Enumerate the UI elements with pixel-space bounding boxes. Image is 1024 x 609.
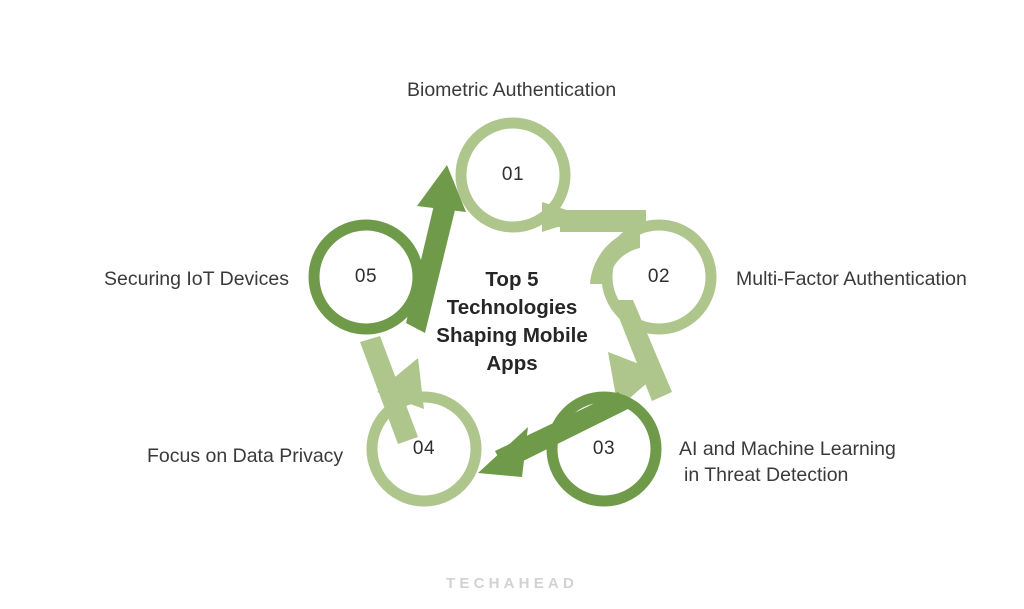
center-title-line-1: Top 5 <box>485 268 538 291</box>
node-label-biometric-authentication: Biometric Authentication <box>407 77 616 103</box>
node-label-ai-machine-learning: AI and Machine Learningin Threat Detecti… <box>679 436 896 488</box>
node-number-05: 05 <box>306 266 426 288</box>
connector-03-to-04-arrowhead <box>478 427 528 477</box>
node-number-01: 01 <box>453 164 573 186</box>
center-title-line-4: Apps <box>486 352 537 375</box>
node-number-02: 02 <box>599 266 719 288</box>
center-title-line-3: Shaping Mobile <box>436 324 587 347</box>
node-label-securing-iot-devices: Securing IoT Devices <box>104 266 289 292</box>
node-label-line-2: in Threat Detection <box>679 462 896 488</box>
node-number-03: 03 <box>544 438 664 460</box>
node-label-multi-factor-authentication: Multi-Factor Authentication <box>736 266 967 292</box>
center-title-line-2: Technologies <box>447 296 578 319</box>
node-label-line-1: AI and Machine Learning <box>679 438 896 460</box>
node-label-focus-on-data-privacy: Focus on Data Privacy <box>147 443 343 469</box>
node-number-04: 04 <box>364 438 484 460</box>
brand-logo: TECHAHEAD <box>0 575 1024 592</box>
center-title: Top 5 Technologies Shaping Mobile Apps <box>412 266 612 378</box>
